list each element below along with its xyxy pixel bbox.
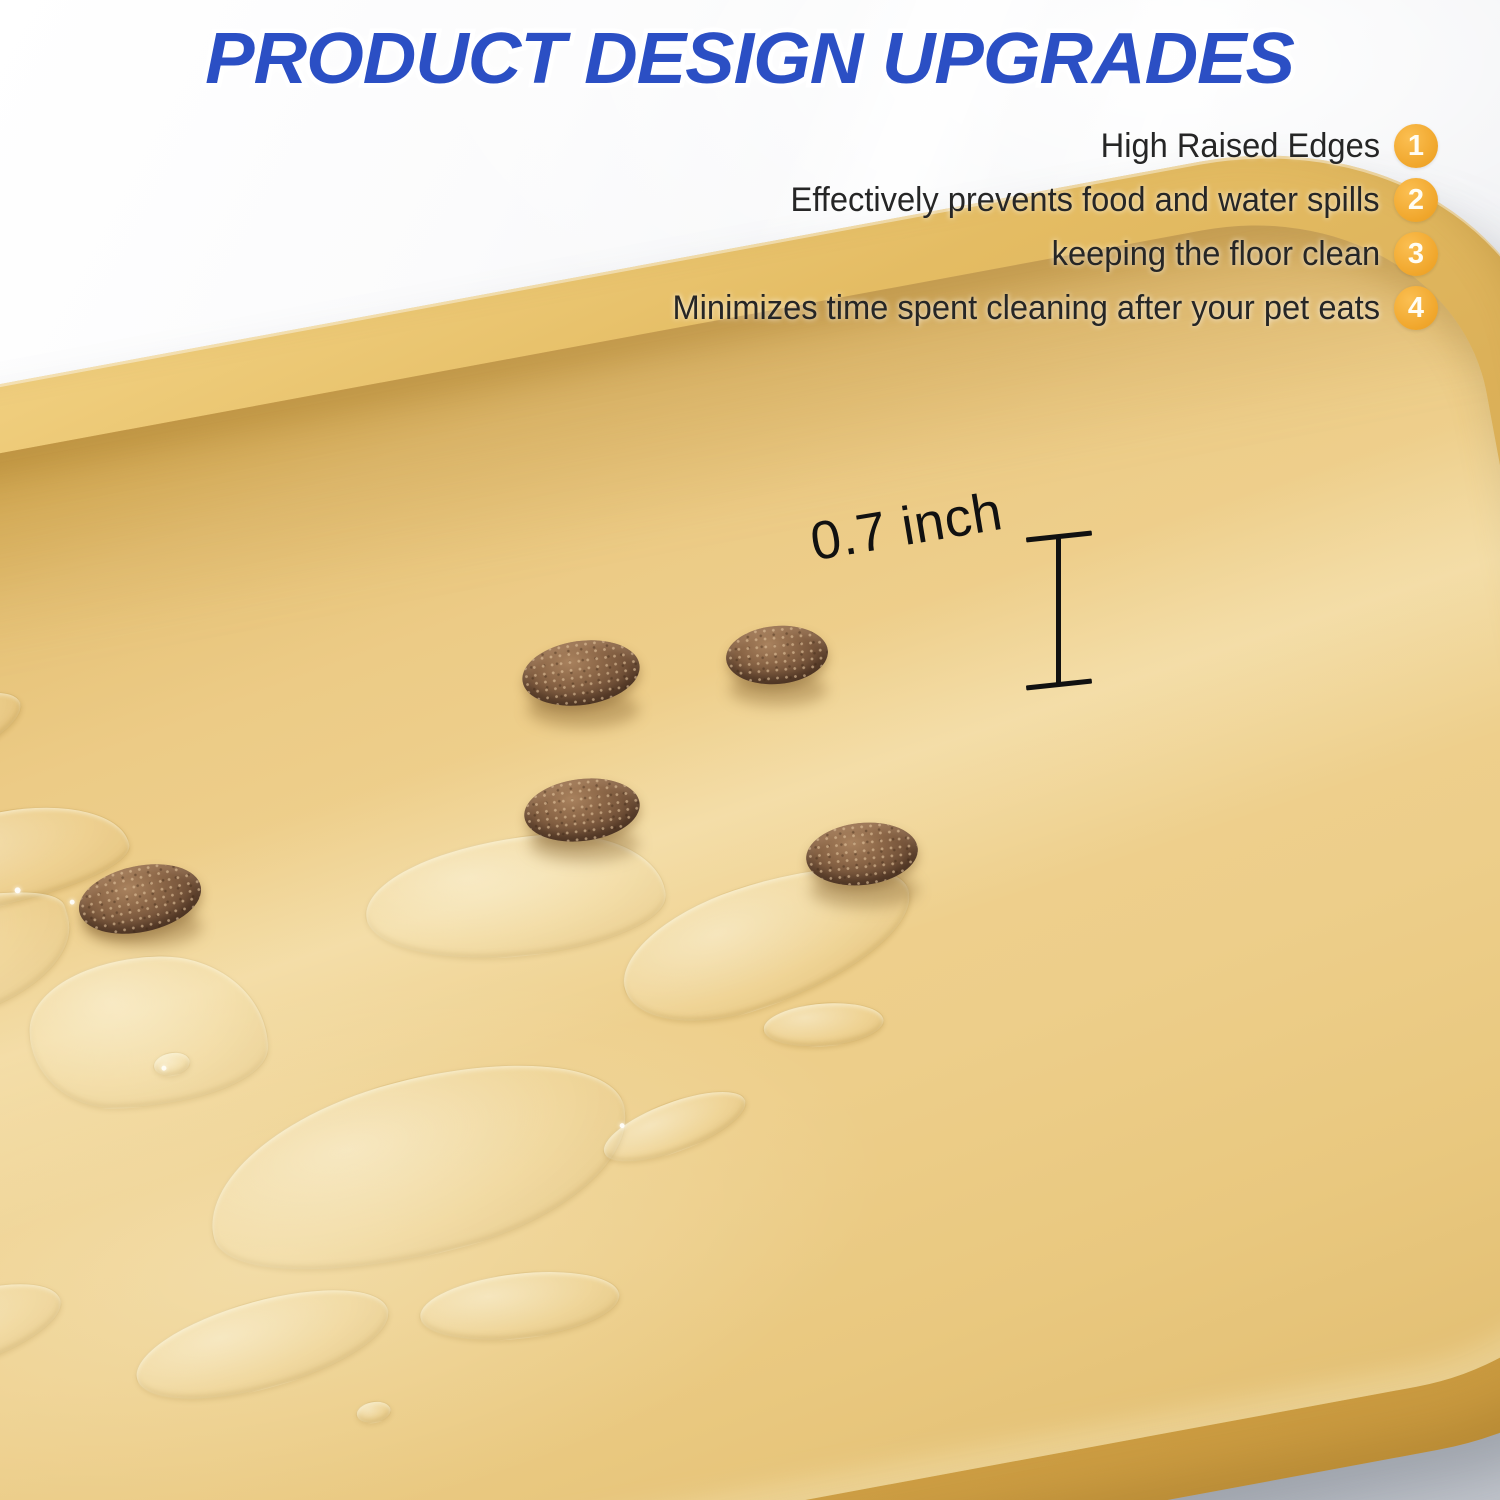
- feature-number-badge: 3: [1394, 232, 1438, 276]
- water-droplet: [354, 1398, 393, 1426]
- feature-label: High Raised Edges: [1101, 127, 1380, 166]
- feature-item: Effectively prevents food and water spil…: [766, 178, 1438, 222]
- pet-feeding-tray: [0, 150, 1500, 1500]
- water-puddle: [416, 1262, 624, 1350]
- feature-number-badge: 1: [1394, 124, 1438, 168]
- water-highlight-speck: [69, 899, 75, 905]
- water-puddle: [124, 1267, 400, 1422]
- water-puddle: [187, 1028, 650, 1308]
- feature-item: keeping the floor clean 3: [1038, 232, 1438, 276]
- feature-item: Minimizes time spent cleaning after your…: [643, 286, 1438, 330]
- dimension-arrow-icon: [1030, 530, 1090, 692]
- water-puddle: [27, 953, 271, 1111]
- feature-label: keeping the floor clean: [1052, 235, 1380, 274]
- feature-list: High Raised Edges 1 Effectively prevents…: [643, 124, 1438, 330]
- title-bar: PRODUCT DESIGN UPGRADES: [0, 18, 1500, 100]
- feature-number-badge: 2: [1394, 178, 1438, 222]
- water-puddle: [761, 998, 886, 1051]
- water-highlight-speck: [619, 1123, 625, 1129]
- dimension-line: [1056, 536, 1061, 686]
- water-puddle: [0, 1265, 72, 1397]
- feature-label: Effectively prevents food and water spil…: [791, 181, 1380, 220]
- page-title: PRODUCT DESIGN UPGRADES: [206, 18, 1295, 100]
- feature-item: High Raised Edges 1: [1089, 124, 1438, 168]
- feature-label: Minimizes time spent cleaning after your…: [672, 289, 1380, 328]
- water-puddle: [0, 863, 88, 1074]
- water-highlight-speck: [14, 887, 21, 894]
- product-marketing-image: 0.7 inch PRODUCT DESIGN UPGRADES High Ra…: [0, 0, 1500, 1500]
- water-highlight-speck: [161, 1065, 167, 1071]
- water-puddle: [595, 1077, 755, 1177]
- water-droplet: [151, 1049, 193, 1080]
- feature-number-badge: 4: [1394, 286, 1438, 330]
